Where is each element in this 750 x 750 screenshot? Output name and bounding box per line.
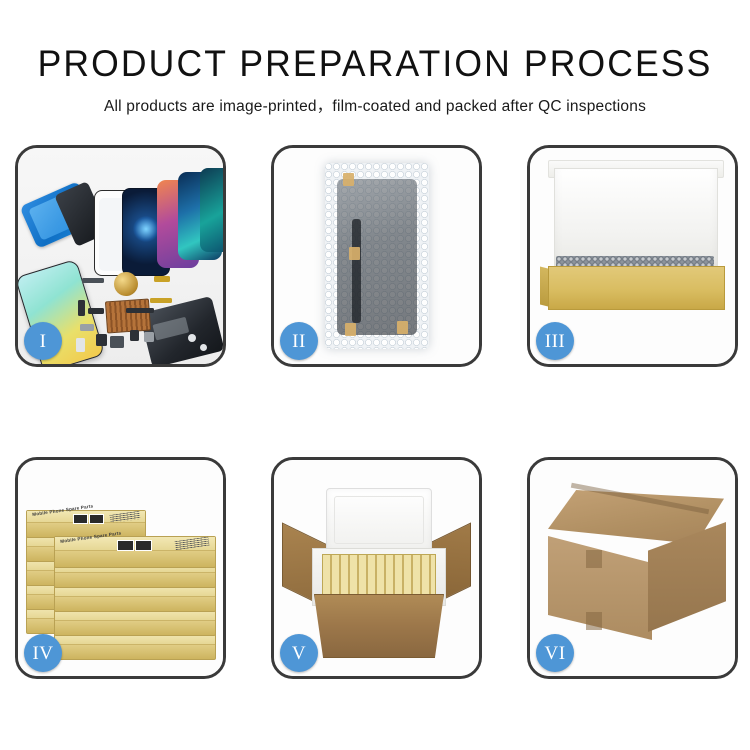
process-step-card-4[interactable]: Mobile Phone Spare Parts Mobile Phone Sp… — [15, 457, 226, 679]
stacked-box — [54, 632, 216, 660]
process-step-card-1[interactable]: I — [15, 145, 226, 367]
green-phone-icon — [200, 168, 223, 252]
stacked-box-top-right: Mobile Phone Spare Parts — [54, 536, 216, 568]
bubble-wrap-package — [325, 163, 429, 349]
part-icon — [200, 344, 207, 351]
header: PRODUCT PREPARATION PROCESS All products… — [0, 0, 750, 117]
stacked-box — [54, 608, 216, 636]
kraft-box-body — [548, 266, 725, 310]
part-icon — [150, 298, 172, 303]
part-icon — [96, 334, 107, 346]
step-badge-1: I — [24, 322, 62, 360]
part-icon — [144, 332, 154, 342]
box-label-image — [89, 514, 104, 524]
stacked-box-top-left: Mobile Phone Spare Parts — [26, 510, 146, 538]
box-label-image — [135, 540, 152, 551]
box-label-image — [117, 540, 134, 551]
part-icon — [154, 276, 170, 282]
process-step-grid: I II — [15, 145, 738, 679]
tape-icon — [397, 321, 408, 334]
part-icon — [80, 324, 94, 331]
speaker-part-icon — [114, 272, 138, 296]
process-step-card-5[interactable]: V — [271, 457, 482, 679]
part-icon — [88, 308, 104, 314]
carton-flap-tab — [586, 550, 602, 568]
foam-lid — [326, 488, 432, 552]
part-icon — [82, 278, 104, 283]
box-label-image — [73, 514, 88, 524]
step-badge-5: V — [280, 634, 318, 672]
chip-board-icon — [105, 299, 151, 334]
part-icon — [126, 308, 154, 313]
part-icon — [76, 338, 85, 352]
inner-boxes-row — [322, 554, 436, 596]
process-step-card-2[interactable]: II — [271, 145, 482, 367]
tape-icon — [345, 323, 356, 336]
box-stack: Mobile Phone Spare Parts Mobile Phone Sp… — [26, 482, 222, 658]
carton-body — [314, 594, 444, 658]
step-badge-2: II — [280, 322, 318, 360]
part-icon — [188, 334, 196, 342]
process-step-card-6[interactable]: VI — [527, 457, 738, 679]
flex-cable — [352, 219, 361, 323]
product-preparation-infographic: PRODUCT PREPARATION PROCESS All products… — [0, 0, 750, 750]
part-icon — [78, 300, 85, 316]
inner-box-slats — [323, 555, 435, 595]
carton-flap-tab — [586, 612, 602, 630]
phone-backplate-icon — [139, 296, 223, 364]
step-badge-3: III — [536, 322, 574, 360]
page-title: PRODUCT PREPARATION PROCESS — [15, 0, 735, 84]
stacked-box — [54, 584, 216, 612]
tape-icon — [343, 173, 354, 186]
tape-icon — [349, 247, 360, 260]
process-step-card-3[interactable]: III — [527, 145, 738, 367]
part-icon — [110, 336, 124, 348]
part-icon — [130, 330, 139, 341]
page-subtitle: All products are image-printed，film-coat… — [0, 84, 750, 117]
step-badge-4: IV — [24, 634, 62, 672]
step-badge-6: VI — [536, 634, 574, 672]
